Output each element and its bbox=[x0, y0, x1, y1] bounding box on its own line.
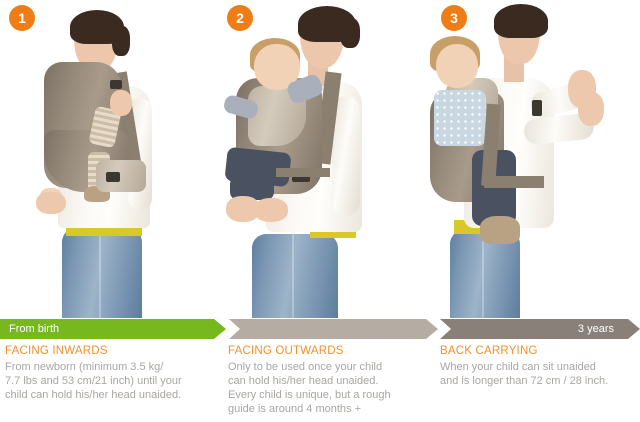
timeline-segment-from-birth: From birth bbox=[0, 319, 226, 339]
step-1-photo: 1 bbox=[0, 0, 212, 318]
caption-step-2: FACING OUTWARDS Only to be used once you… bbox=[228, 345, 434, 416]
caption-step-1-body: From newborn (minimum 3.5 kg/ 7.7 lbs an… bbox=[5, 360, 211, 402]
illustration-facing-outwards bbox=[214, 0, 426, 318]
step-3-photo: 3 bbox=[428, 0, 640, 318]
caption-step-1: FACING INWARDS From newborn (minimum 3.5… bbox=[5, 345, 211, 402]
timeline-start-label: From birth bbox=[9, 323, 59, 335]
caption-step-3-body: When your child can sit unaided and is l… bbox=[440, 360, 640, 388]
step-3-badge: 3 bbox=[441, 5, 467, 31]
caption-step-2-title: FACING OUTWARDS bbox=[228, 345, 434, 357]
timeline-end-label: 3 years bbox=[578, 323, 614, 335]
timeline-segment-three-years: 3 years bbox=[440, 319, 640, 339]
step-2-photo: 2 bbox=[214, 0, 426, 318]
timeline-segment-middle bbox=[229, 319, 438, 339]
illustration-back-carrying bbox=[428, 0, 640, 318]
age-timeline-bar: From birth 3 years bbox=[0, 319, 640, 339]
caption-step-1-title: FACING INWARDS bbox=[5, 345, 211, 357]
caption-step-3-title: BACK CARRYING bbox=[440, 345, 640, 357]
photo-row: 1 bbox=[0, 0, 640, 318]
step-2-badge: 2 bbox=[227, 5, 253, 31]
caption-step-2-body: Only to be used once your child can hold… bbox=[228, 360, 434, 416]
illustration-facing-inwards bbox=[0, 0, 212, 318]
baby-carrier-usage-infographic: 1 bbox=[0, 0, 640, 422]
step-1-badge: 1 bbox=[9, 5, 35, 31]
caption-step-3: BACK CARRYING When your child can sit un… bbox=[440, 345, 640, 388]
caption-row: FACING INWARDS From newborn (minimum 3.5… bbox=[0, 345, 640, 422]
